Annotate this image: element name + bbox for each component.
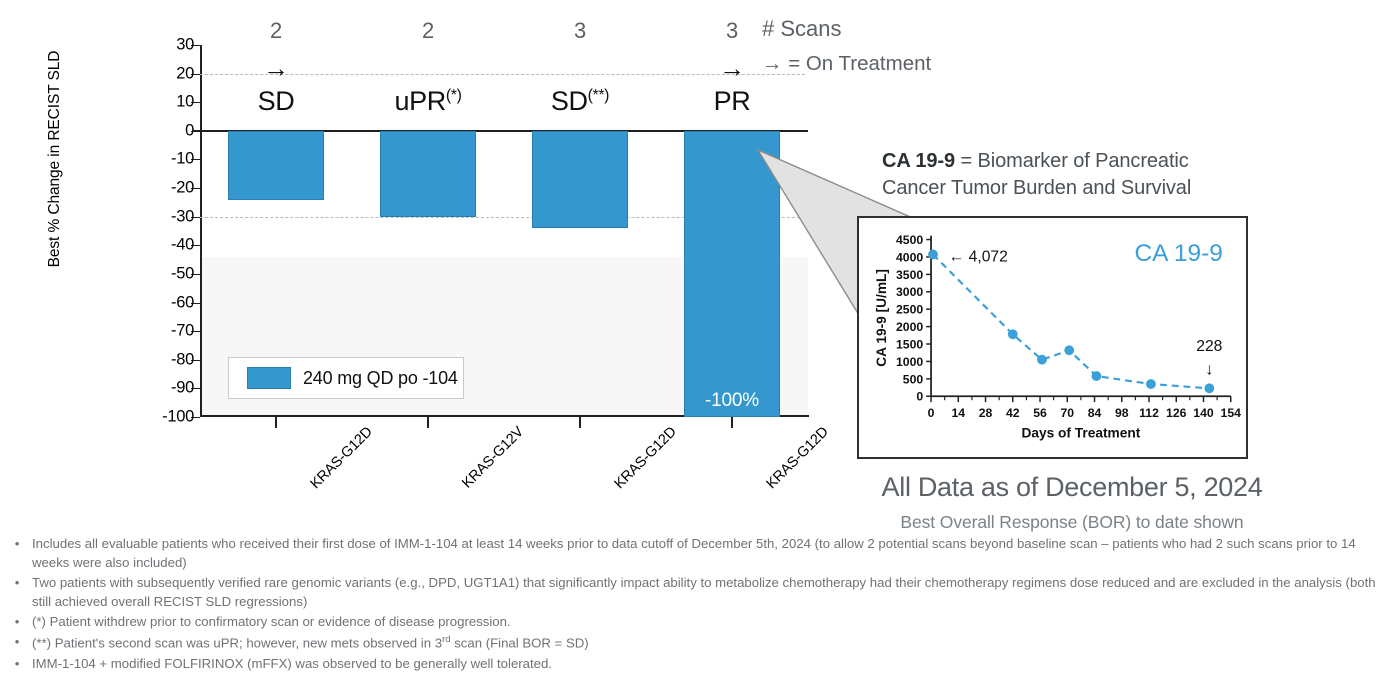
y-tick-label: -70 [171, 322, 194, 341]
inset-x-tick-label: 42 [1006, 406, 1020, 420]
bor-label: PR [714, 86, 751, 117]
inset-y-tick-label: 3500 [896, 268, 923, 282]
y-tick-label: -60 [171, 293, 194, 312]
on-treatment-arrow-icon: → [263, 55, 289, 81]
bor-footnote-mark: (*) [446, 87, 462, 104]
scan-count: 3 [726, 18, 738, 44]
inset-y-tick-label: 3000 [896, 285, 923, 299]
inset-y-axis-title: CA 19-9 [U/mL] [874, 269, 889, 367]
y-tick-label: -10 [171, 150, 194, 169]
footnote-item: •Includes all evaluable patients who rec… [12, 535, 1382, 572]
inset-y-tick-label: 1000 [896, 355, 923, 369]
x-category-label: KRAS-G12D [308, 424, 376, 492]
x-category-label: KRAS-G12D [764, 424, 832, 492]
bor-label: SD [258, 86, 295, 117]
bor-footnote-mark: (**) [588, 87, 610, 104]
footnote-item: •IMM-1-104 + modified FOLFIRINOX (mFFX) … [12, 655, 1382, 673]
x-tick [427, 417, 429, 428]
inset-y-tick-label: 4500 [896, 233, 923, 247]
inset-x-tick-label: 70 [1060, 406, 1074, 420]
inset-y-tick-label: 2000 [896, 320, 923, 334]
inset-data-point [1064, 345, 1074, 355]
bar: -100% [684, 131, 780, 417]
inset-x-tick-label: 126 [1166, 406, 1187, 420]
inset-y-tick-label: 500 [903, 372, 924, 386]
inset-data-point [1037, 355, 1047, 365]
y-tick-label: 30 [176, 36, 194, 55]
inset-x-tick-label: 0 [928, 406, 935, 420]
bar [532, 131, 628, 228]
inset-last-value-annotation: 228 [1196, 338, 1222, 355]
footnote-item: •(*) Patient withdrew prior to confirmat… [12, 613, 1382, 632]
bar [380, 131, 476, 217]
footnote-item: •Two patients with subsequently verified… [12, 574, 1382, 611]
inset-first-value-annotation: ← 4,072 [949, 248, 1008, 265]
inset-data-point [1204, 383, 1214, 393]
x-tick [275, 417, 277, 428]
footnote-bullet-icon: • [12, 613, 22, 632]
footnote-bullet-icon: • [12, 574, 22, 611]
inset-data-point [1092, 371, 1102, 381]
bor-label: uPR(*) [394, 86, 461, 117]
bar-value-label: -100% [685, 390, 779, 412]
inset-data-point [1008, 329, 1018, 339]
footnote-text: Two patients with subsequently verified … [32, 574, 1382, 611]
y-tick-label: 10 [176, 93, 194, 112]
y-axis-title: Best % Change in RECIST SLD [46, 44, 64, 274]
on-treatment-arrow-icon: → [719, 55, 745, 81]
x-tick [579, 417, 581, 428]
scans-header-label: # Scans [762, 16, 842, 42]
inset-series-line [933, 254, 1209, 388]
footnotes-list: •Includes all evaluable patients who rec… [12, 535, 1382, 673]
waterfall-chart: Best % Change in RECIST SLD # Scans → = … [0, 0, 860, 540]
ca19-9-line-plot: 0500100015002000250030003500400045000142… [859, 218, 1245, 456]
inset-y-tick-label: 1500 [896, 337, 923, 351]
y-axis-line [200, 45, 202, 417]
biomarker-description: CA 19-9 = Biomarker of Pancreatic Cancer… [882, 148, 1242, 201]
as-of-date: All Data as of December 5, 2024 [857, 472, 1287, 503]
y-tick-label: -90 [171, 379, 194, 398]
scan-count: 2 [422, 18, 434, 44]
footnote-bullet-icon: • [12, 535, 22, 572]
series-legend: 240 mg QD po -104 [228, 357, 464, 399]
inset-x-tick-label: 140 [1193, 406, 1214, 420]
footnote-bullet-icon: • [12, 633, 22, 653]
biomarker-term: CA 19-9 [882, 150, 955, 172]
y-tick-label: -20 [171, 179, 194, 198]
y-tick-label: -100 [162, 408, 194, 427]
footnote-text: (**) Patient's second scan was uPR; howe… [32, 633, 1382, 653]
inset-y-tick-label: 0 [916, 390, 923, 404]
x-category-label: KRAS-G12V [459, 424, 527, 492]
slide-root: Best % Change in RECIST SLD # Scans → = … [0, 0, 1385, 673]
bor-label: SD(**) [551, 86, 609, 117]
y-tick-label: -50 [171, 264, 194, 283]
ca19-9-inset-chart: 0500100015002000250030003500400045000142… [857, 216, 1248, 459]
y-tick-label: 20 [176, 64, 194, 83]
bor-note: Best Overall Response (BOR) to date show… [857, 512, 1287, 533]
inset-x-tick-label: 154 [1221, 406, 1242, 420]
inset-y-tick-label: 4000 [896, 250, 923, 264]
legend-swatch-icon [247, 367, 291, 389]
inset-x-tick-label: 84 [1088, 406, 1102, 420]
footnote-text: IMM-1-104 + modified FOLFIRINOX (mFFX) w… [32, 655, 1382, 673]
x-category-label: KRAS-G12D [612, 424, 680, 492]
inset-x-tick-label: 28 [979, 406, 993, 420]
scan-count: 2 [270, 18, 282, 44]
x-tick [731, 417, 733, 428]
gridline [200, 74, 805, 75]
footnote-item: •(**) Patient's second scan was uPR; how… [12, 633, 1382, 653]
footnote-text: Includes all evaluable patients who rece… [32, 535, 1382, 572]
inset-y-tick-label: 2500 [896, 303, 923, 317]
y-tick-label: -80 [171, 350, 194, 369]
y-tick-label: -30 [171, 207, 194, 226]
inset-x-tick-label: 98 [1115, 406, 1129, 420]
inset-data-point [928, 250, 938, 260]
inset-x-axis-title: Days of Treatment [1021, 425, 1140, 440]
footnote-text: (*) Patient withdrew prior to confirmato… [32, 613, 1382, 632]
scan-count: 3 [574, 18, 586, 44]
footnote-bullet-icon: • [12, 655, 22, 673]
inset-x-tick-label: 14 [951, 406, 965, 420]
bar [228, 131, 324, 200]
y-tick-label: -40 [171, 236, 194, 255]
inset-x-tick-label: 112 [1139, 406, 1159, 420]
inset-chart-title: CA 19-9 [1134, 240, 1222, 267]
legend-label: 240 mg QD po -104 [303, 368, 458, 389]
inset-data-point [1146, 379, 1156, 389]
inset-down-arrow-icon: ↓ [1205, 360, 1213, 379]
inset-x-tick-label: 56 [1033, 406, 1047, 420]
